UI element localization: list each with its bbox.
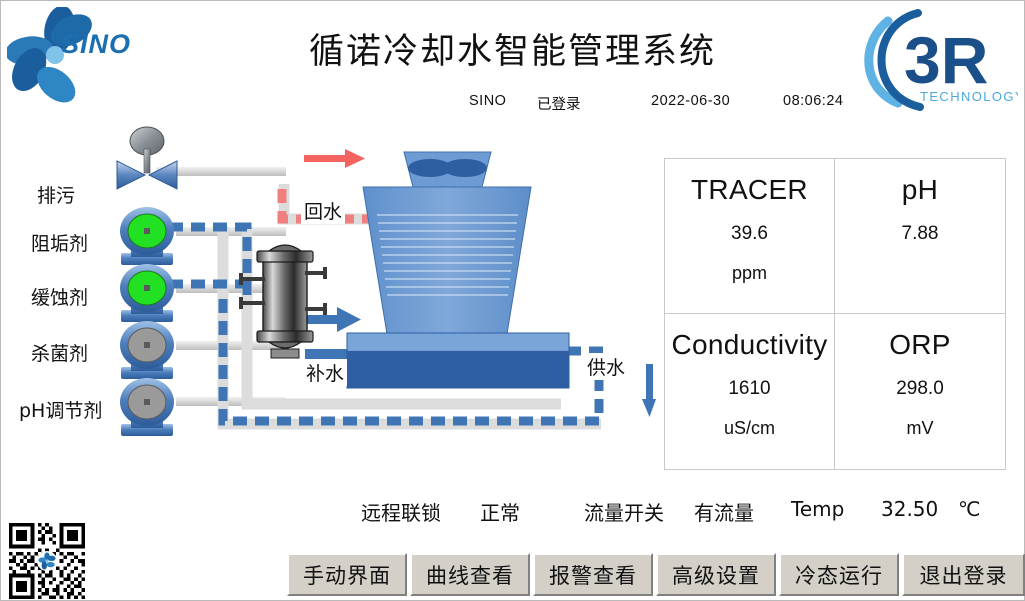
main-button-bar: 手动界面 曲线查看 报警查看 高级设置 冷态运行 退出登录 [287,553,1025,596]
orp-unit: mV [907,418,934,439]
status-row: 远程联锁 正常 流量开关 有流量 Temp 32.50 ℃ [1,497,1024,529]
header-status-line: SINO 已登录 2022-06-30 08:06:24 [1,93,1024,115]
dosing-pump-biocide [120,321,174,379]
measurement-panel: TRACER 39.6 ppm pH 7.88 Conductivity 161… [664,158,1006,470]
temperature-unit: ℃ [958,497,980,521]
makeup-water-label: 补水 [303,359,347,386]
tracer-name: TRACER [691,173,808,207]
flow-switch-label: 流量开关 [584,497,664,526]
conductivity-value: 1610 [728,378,770,400]
logout-button[interactable]: 退出登录 [902,553,1025,596]
remote-interlock-label: 远程联锁 [361,497,441,526]
alarm-view-button[interactable]: 报警查看 [533,553,653,596]
manual-interface-button[interactable]: 手动界面 [287,553,407,596]
blowdown-valve [117,127,177,189]
orp-name: ORP [889,328,951,362]
flow-switch-value: 有流量 [694,497,754,526]
login-status: 已登录 [537,93,581,114]
measurement-cell-tracer: TRACER 39.6 ppm [665,159,835,314]
cooling-tower [347,152,569,388]
conductivity-name: Conductivity [671,328,827,362]
return-flow-arrow [304,149,365,168]
page-title: 循诺冷却水智能管理系统 [1,23,1024,74]
application-window: SINO 3R TECHNOLOGY 循诺冷却水智能管理系统 SINO 已登录 … [0,0,1025,601]
tracer-value: 39.6 [731,223,768,245]
measurement-cell-orp: ORP 298.0 mV [835,314,1005,469]
remote-interlock-value: 正常 [480,497,520,526]
cold-run-button[interactable]: 冷态运行 [779,553,899,596]
qr-center-logo-icon [37,551,57,571]
current-date: 2022-06-30 [651,93,730,109]
curve-view-button[interactable]: 曲线查看 [410,553,530,596]
advanced-settings-button[interactable]: 高级设置 [656,553,776,596]
measurement-cell-conductivity: Conductivity 1610 uS/cm [665,314,835,469]
logged-user: SINO [469,93,506,109]
current-time: 08:06:24 [783,93,843,109]
supply-flow-arrow-down [642,364,656,417]
ph-value: 7.88 [902,223,939,245]
process-flow-diagram [1,119,661,484]
temperature-label: Temp [791,497,844,521]
dosing-pump-corrosion-inhibitor [120,264,174,322]
tracer-unit: ppm [732,263,767,284]
measurement-cell-ph: pH 7.88 [835,159,1005,314]
supply-water-label: 供水 [584,353,628,380]
orp-value: 298.0 [896,378,944,400]
dosing-pump-antiscalant [120,207,174,265]
return-water-label: 回水 [301,197,345,224]
temperature-value: 32.50 [881,497,938,521]
ph-name: pH [902,173,938,207]
dosing-pump-ph-adjuster [120,378,174,436]
conductivity-unit: uS/cm [724,418,775,439]
